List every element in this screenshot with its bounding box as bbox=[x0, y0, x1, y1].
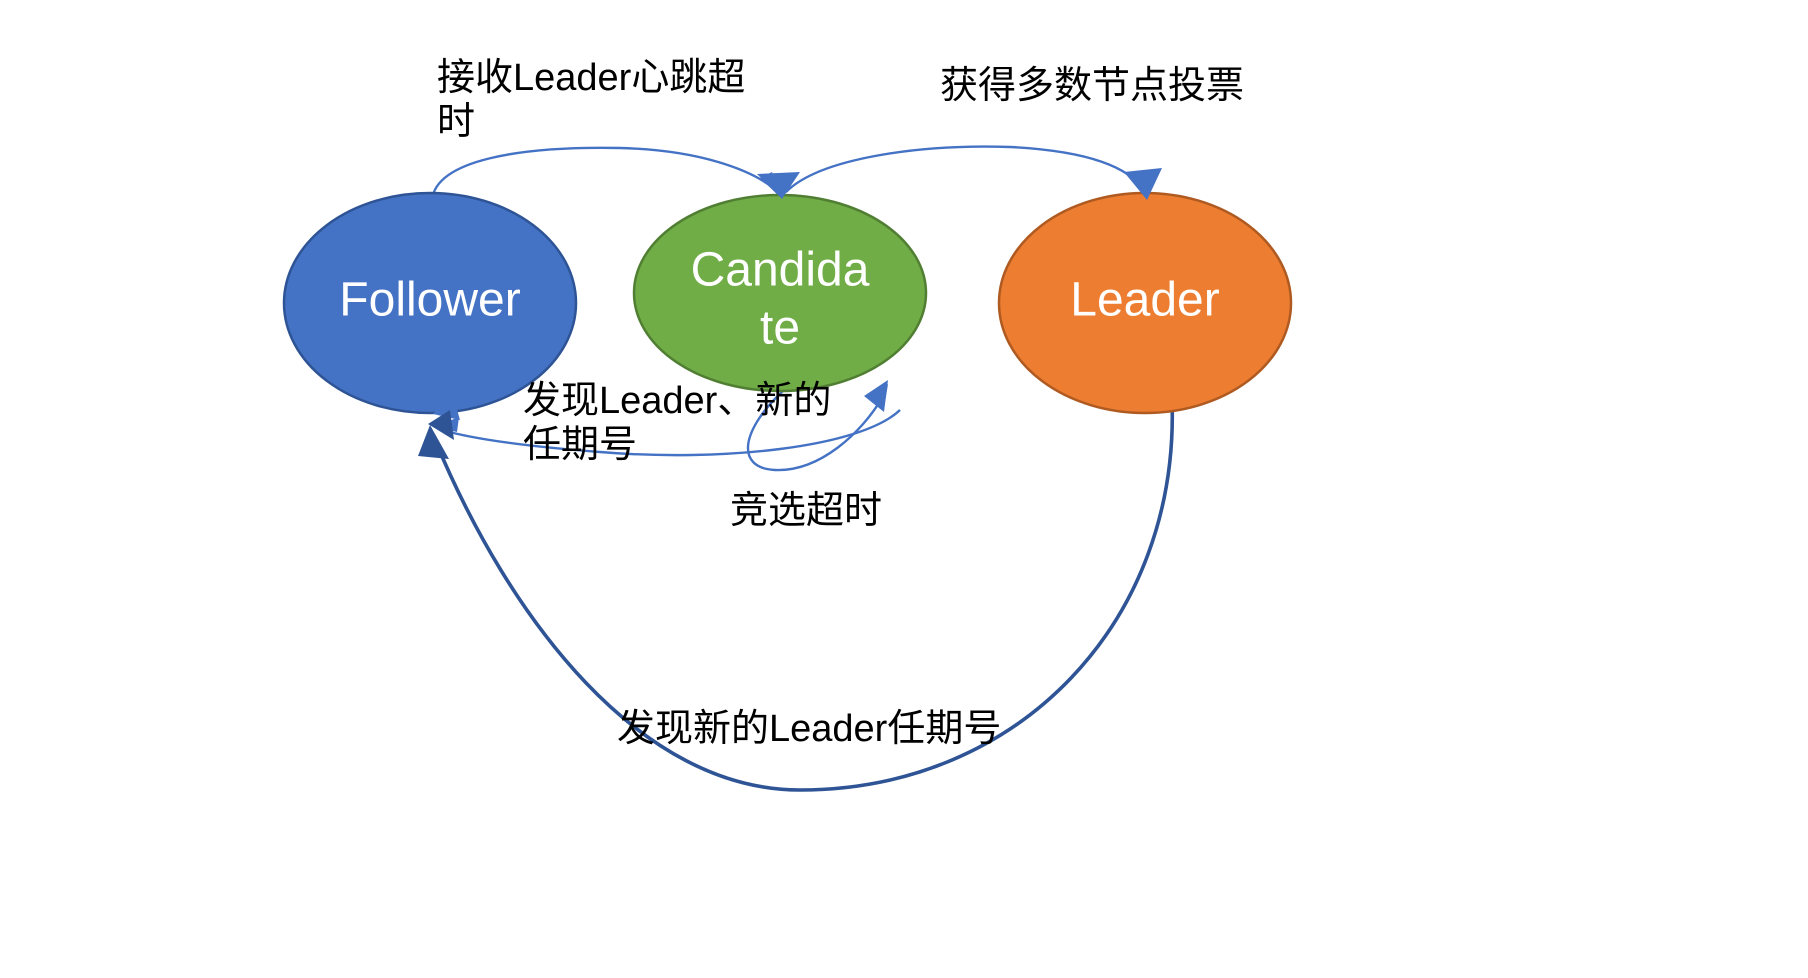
edge-label-follower-to-candidate-line2: 时 bbox=[437, 101, 475, 143]
edge-follower-to-candidate-path bbox=[432, 148, 776, 200]
edge-label-leader-to-follower-line1: 发现新的Leader任期号 bbox=[617, 708, 1001, 750]
node-candidate-label-line1: Candida bbox=[691, 244, 870, 297]
edge-candidate-to-leader-path bbox=[786, 147, 1143, 192]
edge-label-candidate-to-follower-line2: 任期号 bbox=[523, 424, 637, 466]
edge-label-candidate-to-follower-line1: 发现Leader、新的 bbox=[523, 380, 831, 422]
state-transition-diagram: Follower Candida te Leader 接收Leader心跳超 时… bbox=[0, 0, 1808, 978]
edge-label-candidate-self-loop: 竞选超时 bbox=[730, 490, 882, 532]
node-candidate[interactable]: Candida te bbox=[634, 195, 926, 391]
node-leader[interactable]: Leader bbox=[999, 193, 1291, 413]
diagram-canvas: Follower Candida te Leader 接收Leader心跳超 时… bbox=[0, 0, 1808, 978]
node-leader-label: Leader bbox=[1070, 274, 1219, 327]
edge-label-candidate-self-loop-line1: 竞选超时 bbox=[730, 490, 882, 532]
edge-label-leader-to-follower: 发现新的Leader任期号 bbox=[617, 708, 1001, 750]
edge-label-candidate-to-leader-line1: 获得多数节点投票 bbox=[940, 65, 1244, 107]
edge-candidate-to-leader bbox=[786, 147, 1148, 199]
node-candidate-label-line2: te bbox=[760, 302, 800, 355]
edge-label-candidate-to-follower: 发现Leader、新的 任期号 bbox=[523, 380, 831, 466]
edge-label-follower-to-candidate-line1: 接收Leader心跳超 bbox=[437, 57, 745, 99]
node-follower-label: Follower bbox=[339, 274, 520, 327]
edge-label-candidate-to-leader: 获得多数节点投票 bbox=[940, 65, 1244, 107]
edge-label-follower-to-candidate: 接收Leader心跳超 时 bbox=[437, 57, 745, 143]
edge-follower-to-candidate bbox=[432, 148, 782, 200]
